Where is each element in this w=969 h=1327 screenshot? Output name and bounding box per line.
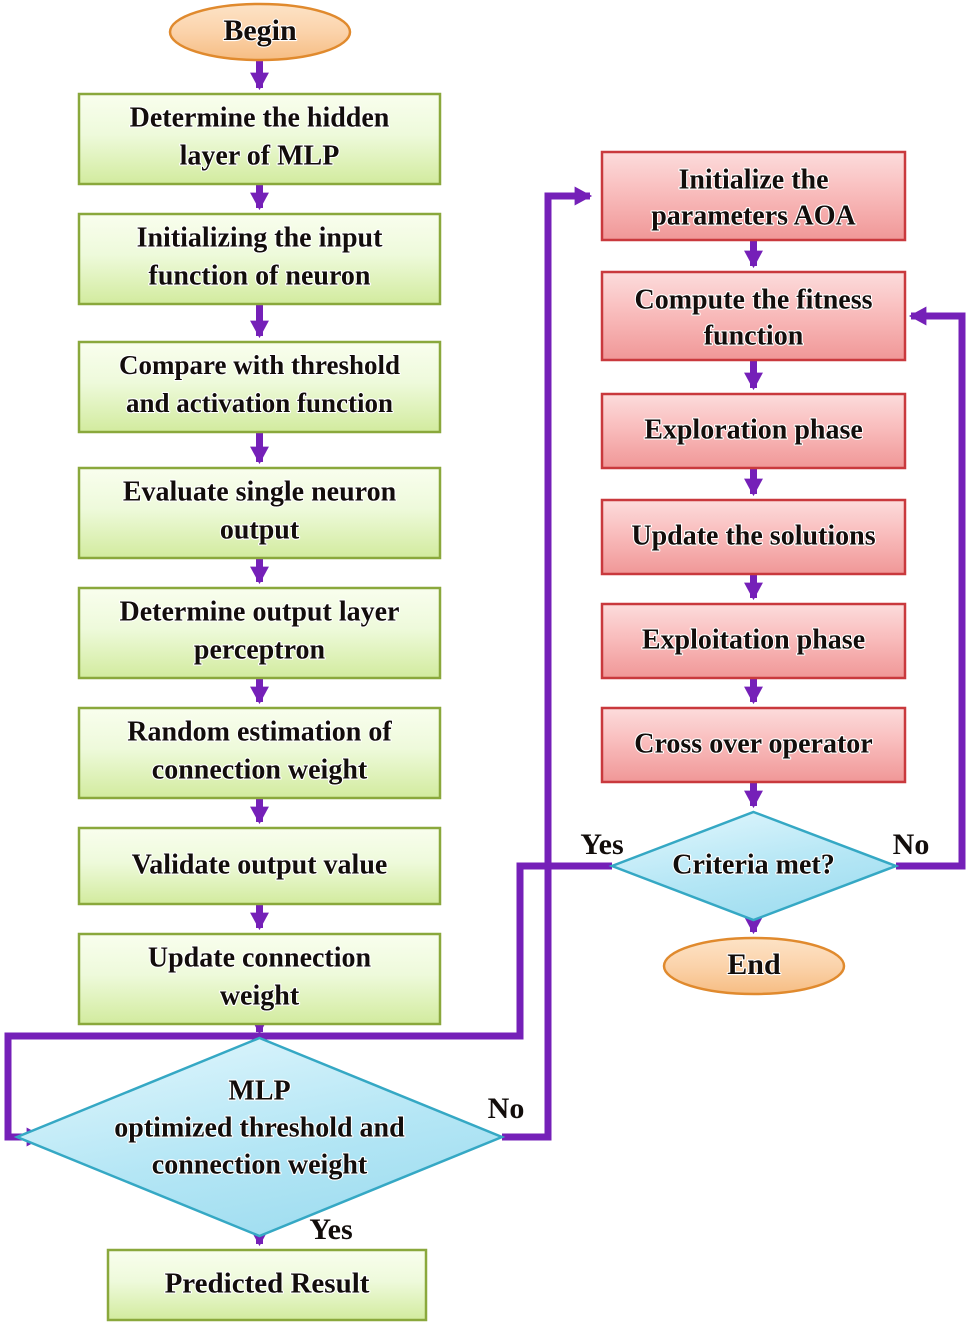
output-layer-label-line2: perceptron [194, 634, 326, 665]
init-aoa-label-line1: Initialize the [678, 164, 828, 195]
compare-label-line2: and activation function [126, 388, 393, 418]
node-update-solutions[interactable]: Update the solutions [602, 500, 905, 574]
edge-label-mlp-no: No [488, 1092, 525, 1125]
update-conn-label-line2: weight [220, 980, 300, 1011]
predicted-result-label: Predicted Result [165, 1268, 370, 1300]
random-estimation-label-line1: Random estimation of [127, 716, 392, 747]
update-solutions-label: Update the solutions [631, 520, 875, 551]
flowchart-canvas: Begin Determine the hidden layer of MLP … [0, 0, 969, 1327]
node-validate-output-value[interactable]: Validate output value [79, 828, 440, 904]
exploitation-label: Exploitation phase [642, 624, 865, 655]
node-compare-threshold[interactable]: Compare with threshold and activation fu… [79, 342, 440, 432]
edge-label-criteria-no: No [893, 828, 930, 861]
flowchart-svg: Begin Determine the hidden layer of MLP … [0, 0, 969, 1327]
node-criteria-decision[interactable]: Criteria met? [612, 812, 896, 920]
edge-label-mlp-yes: Yes [309, 1213, 352, 1246]
node-end[interactable]: End [664, 938, 844, 994]
node-mlp-optimized-decision[interactable]: MLP optimized threshold and connection w… [17, 1038, 502, 1236]
compare-label-line1: Compare with threshold [119, 350, 400, 380]
node-exploitation-phase[interactable]: Exploitation phase [602, 604, 905, 678]
node-initializing-input-function[interactable]: Initializing the input function of neuro… [79, 214, 440, 304]
output-layer-label-line1: Determine output layer [120, 596, 400, 627]
begin-label: Begin [223, 14, 297, 47]
node-cross-over-operator[interactable]: Cross over operator [602, 708, 905, 782]
node-determine-hidden-layer[interactable]: Determine the hidden layer of MLP [79, 94, 440, 184]
mlp-decision-label-line1: MLP [228, 1075, 290, 1106]
hidden-layer-label-line1: Determine the hidden [130, 102, 390, 133]
end-label: End [727, 948, 781, 981]
update-conn-label-line1: Update connection [148, 942, 372, 973]
evaluate-label-line2: output [220, 514, 300, 545]
node-evaluate-neuron-output[interactable]: Evaluate single neuron output [79, 468, 440, 558]
init-input-label-line1: Initializing the input [137, 222, 384, 253]
init-input-label-line2: function of neuron [149, 260, 371, 291]
hidden-layer-label-line2: layer of MLP [180, 140, 340, 171]
edge-mlpdec-no-to-initaoa [502, 196, 590, 1137]
random-estimation-label-line2: connection weight [152, 754, 368, 785]
node-compute-fitness[interactable]: Compute the fitness function [602, 272, 905, 360]
node-exploration-phase[interactable]: Exploration phase [602, 394, 905, 468]
exploration-label: Exploration phase [644, 414, 863, 445]
validate-label: Validate output value [132, 849, 388, 880]
node-predicted-result[interactable]: Predicted Result [108, 1250, 426, 1320]
node-begin[interactable]: Begin [170, 4, 350, 60]
criteria-decision-label: Criteria met? [672, 849, 834, 880]
crossover-label: Cross over operator [634, 728, 872, 759]
mlp-decision-label-line2: optimized threshold and [114, 1112, 405, 1143]
edge-label-criteria-yes: Yes [580, 828, 623, 861]
mlp-decision-label-line3: connection weight [152, 1149, 368, 1180]
node-random-estimation[interactable]: Random estimation of connection weight [79, 708, 440, 798]
evaluate-label-line1: Evaluate single neuron [123, 476, 397, 507]
fitness-label-line2: function [704, 320, 804, 351]
node-initialize-aoa[interactable]: Initialize the parameters AOA [602, 152, 905, 240]
init-aoa-label-line2: parameters AOA [651, 200, 856, 231]
node-update-connection-weight[interactable]: Update connection weight [79, 934, 440, 1024]
node-determine-output-layer[interactable]: Determine output layer perceptron [79, 588, 440, 678]
fitness-label-line1: Compute the fitness [635, 284, 873, 315]
